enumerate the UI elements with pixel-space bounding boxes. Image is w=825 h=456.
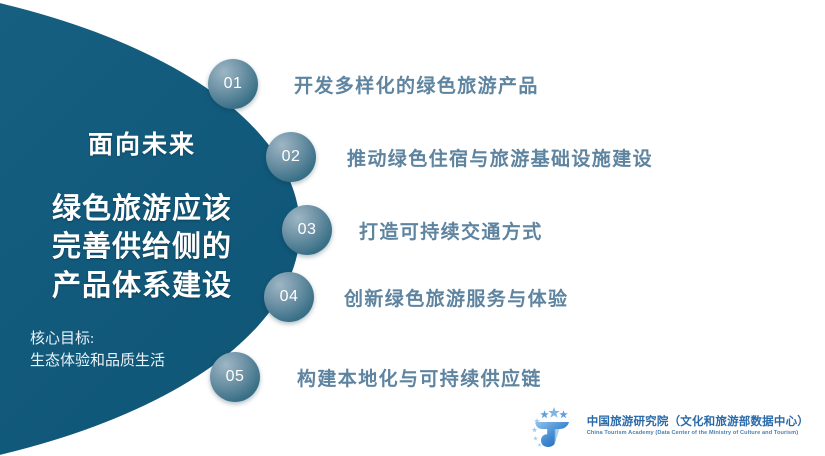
headline-line-3: 产品体系建设 — [24, 267, 260, 305]
step-label-03: 打造可持续交通方式 — [359, 217, 543, 244]
core-goal-label: 核心目标: — [30, 329, 260, 351]
logo-name-en: China Tourism Academy (Data Center of th… — [587, 430, 809, 437]
step-badge-03[interactable]: 03 — [282, 205, 332, 255]
step-label-05: 构建本地化与可持续供应链 — [297, 364, 542, 391]
china-tourism-academy-logo-icon — [527, 404, 581, 448]
step-badge-02[interactable]: 02 — [266, 132, 316, 182]
step-item-01[interactable]: 01 开发多样化的绿色旅游产品 — [208, 59, 539, 109]
step-item-02[interactable]: 02 推动绿色住宿与旅游基础设施建设 — [266, 132, 653, 182]
headline: 绿色旅游应该 完善供给侧的 产品体系建设 — [24, 190, 260, 305]
step-badge-04[interactable]: 04 — [264, 272, 314, 322]
step-badge-05[interactable]: 05 — [210, 352, 260, 402]
step-label-02: 推动绿色住宿与旅游基础设施建设 — [347, 144, 653, 171]
headline-line-2: 完善供给侧的 — [24, 228, 260, 266]
headline-line-1: 绿色旅游应该 — [24, 190, 260, 228]
step-item-04[interactable]: 04 创新绿色旅游服务与体验 — [264, 272, 568, 322]
step-item-05[interactable]: 05 构建本地化与可持续供应链 — [210, 352, 542, 402]
step-badge-01[interactable]: 01 — [208, 59, 258, 109]
logo-name-cn: 中国旅游研究院（文化和旅游部数据中心） — [587, 415, 809, 429]
step-label-04: 创新绿色旅游服务与体验 — [344, 284, 568, 311]
organization-logo: 中国旅游研究院（文化和旅游部数据中心） China Tourism Academ… — [527, 404, 809, 448]
step-label-01: 开发多样化的绿色旅游产品 — [294, 71, 539, 98]
left-text-block: 面向未来 绿色旅游应该 完善供给侧的 产品体系建设 核心目标: 生态体验和品质生… — [24, 130, 260, 372]
eyebrow-title: 面向未来 — [24, 130, 260, 160]
logo-text-block: 中国旅游研究院（文化和旅游部数据中心） China Tourism Academ… — [587, 415, 809, 438]
step-item-03[interactable]: 03 打造可持续交通方式 — [282, 205, 543, 255]
slide-canvas: 面向未来 绿色旅游应该 完善供给侧的 产品体系建设 核心目标: 生态体验和品质生… — [0, 0, 825, 456]
